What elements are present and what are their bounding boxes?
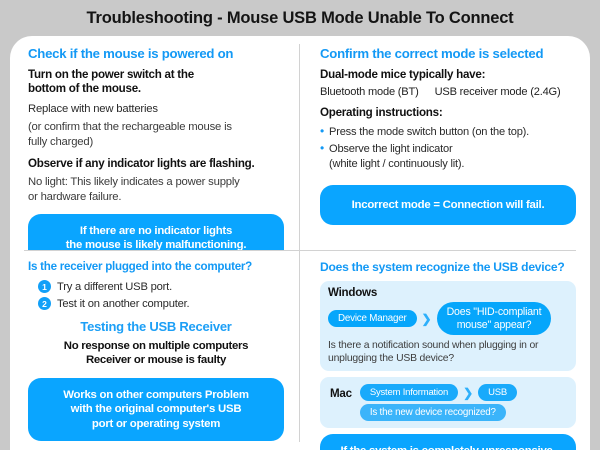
pill-usb[interactable]: USB xyxy=(478,384,517,401)
q3-step-list: 1 Try a different USB port. 2 Test it on… xyxy=(38,280,284,310)
pill-hid-line-2: mouse" appear? xyxy=(457,319,532,331)
quadrant-mode-check: Confirm the correct mode is selected Dua… xyxy=(300,36,590,250)
mac-pill-row-1: System Information ❯ USB xyxy=(360,384,517,401)
q4-callout-line-1: If the system is completely unresponsive… xyxy=(328,444,568,450)
q2-bullet-2-text-b: (white light / continuously lit). xyxy=(329,158,464,170)
q1-callout-line-2: the mouse is likely malfunctioning. xyxy=(36,238,276,250)
q3-sub-heading: Testing the USB Receiver xyxy=(28,319,284,334)
q3-result-line-2: Receiver or mouse is faulty xyxy=(28,353,284,367)
pill-system-information[interactable]: System Information xyxy=(360,384,458,401)
quadrant-grid: Check if the mouse is powered on Turn on… xyxy=(10,36,590,450)
q2-heading: Confirm the correct mode is selected xyxy=(320,46,576,61)
q2-bullet-1-text: Press the mode switch button (on the top… xyxy=(329,125,529,139)
q2-bold-line-2: Operating instructions: xyxy=(320,106,576,120)
q2-mode-usb-24g: USB receiver mode (2.4G) xyxy=(435,86,561,98)
q1-line-4b: or hardware failure. xyxy=(28,190,284,205)
quadrant-system-recognition: Does the system recognize the USB device… xyxy=(300,250,590,450)
windows-note: Is there a notification sound when plugg… xyxy=(328,339,568,365)
mac-pill-row-2: Is the new device recognized? xyxy=(360,404,517,421)
q4-callout: If the system is completely unresponsive… xyxy=(320,434,576,450)
q3-callout-line-2: with the original computer's USB xyxy=(36,402,276,417)
q1-line-4a: No light: This likely indicates a power … xyxy=(28,175,284,190)
step-number-badge: 1 xyxy=(38,280,51,293)
windows-note-line-1: Is there a notification sound when plugg… xyxy=(328,340,538,351)
windows-note-line-2: unplugging the USB device? xyxy=(328,353,454,364)
quadrant-receiver-check: Is the receiver plugged into the compute… xyxy=(10,250,300,450)
vertical-divider xyxy=(299,44,300,442)
content-card: Check if the mouse is powered on Turn on… xyxy=(10,36,590,450)
q1-callout-line-1: If there are no indicator lights xyxy=(36,224,276,239)
q2-bullet-2: • Observe the light indicator (white lig… xyxy=(320,142,576,170)
step-number-badge: 2 xyxy=(38,297,51,310)
page-title: Troubleshooting - Mouse USB Mode Unable … xyxy=(0,0,600,36)
q1-line-2: Replace with new batteries xyxy=(28,102,284,117)
q2-bullet-1: • Press the mode switch button (on the t… xyxy=(320,125,576,139)
q1-callout: If there are no indicator lights the mou… xyxy=(28,214,284,250)
q1-line-3a: (or confirm that the rechargeable mouse … xyxy=(28,120,284,135)
q3-step-1: 1 Try a different USB port. xyxy=(38,280,284,293)
q3-step-1-text: Try a different USB port. xyxy=(57,281,172,293)
q2-bold-line-1: Dual-mode mice typically have: xyxy=(320,68,576,82)
q4-heading: Does the system recognize the USB device… xyxy=(320,260,576,274)
chevron-right-icon: ❯ xyxy=(422,313,432,325)
pill-device-manager[interactable]: Device Manager xyxy=(328,310,417,327)
q3-step-2: 2 Test it on another computer. xyxy=(38,297,284,310)
q3-callout-line-3: port or operating system xyxy=(36,417,276,432)
windows-os-label: Windows xyxy=(328,286,568,299)
horizontal-divider xyxy=(24,250,576,251)
q3-callout: Works on other computers Problem with th… xyxy=(28,378,284,442)
q2-callout-line-1: Incorrect mode = Connection will fail. xyxy=(328,198,568,213)
mac-os-label: Mac xyxy=(330,384,352,400)
bullet-dot-icon: • xyxy=(320,125,324,139)
bullet-dot-icon: • xyxy=(320,142,324,170)
pill-hid-compliant-mouse[interactable]: Does "HID-compliant mouse" appear? xyxy=(437,302,552,335)
q3-result-line-1: No response on multiple computers xyxy=(28,339,284,353)
q3-step-2-text: Test it on another computer. xyxy=(57,298,189,310)
q2-bullet-2-text-a: Observe the light indicator xyxy=(329,143,452,155)
q2-callout: Incorrect mode = Connection will fail. xyxy=(320,185,576,226)
pill-device-recognized-question[interactable]: Is the new device recognized? xyxy=(360,404,506,421)
mac-pill-stack: System Information ❯ USB Is the new devi… xyxy=(360,384,517,421)
q1-heading: Check if the mouse is powered on xyxy=(28,46,284,61)
chevron-right-icon: ❯ xyxy=(463,387,473,399)
q1-bold-line-1b: bottom of the mouse. xyxy=(28,82,284,96)
q2-mode-bluetooth: Bluetooth mode (BT) xyxy=(320,86,419,98)
mac-panel: Mac System Information ❯ USB Is the new … xyxy=(320,377,576,428)
pill-hid-line-1: Does "HID-compliant xyxy=(447,306,542,318)
q2-mode-row: Bluetooth mode (BT) USB receiver mode (2… xyxy=(320,86,576,98)
q1-bold-line-2: Observe if any indicator lights are flas… xyxy=(28,157,284,171)
windows-panel: Windows Device Manager ❯ Does "HID-compl… xyxy=(320,281,576,371)
q2-bullet-list: • Press the mode switch button (on the t… xyxy=(320,125,576,171)
q3-heading: Is the receiver plugged into the compute… xyxy=(28,260,284,273)
quadrant-power-check: Check if the mouse is powered on Turn on… xyxy=(10,36,300,250)
windows-pill-row: Device Manager ❯ Does "HID-compliant mou… xyxy=(328,302,568,335)
q1-line-3b: fully charged) xyxy=(28,135,284,150)
q1-bold-line-1a: Turn on the power switch at the xyxy=(28,68,284,82)
q3-callout-line-1: Works on other computers Problem xyxy=(36,388,276,403)
